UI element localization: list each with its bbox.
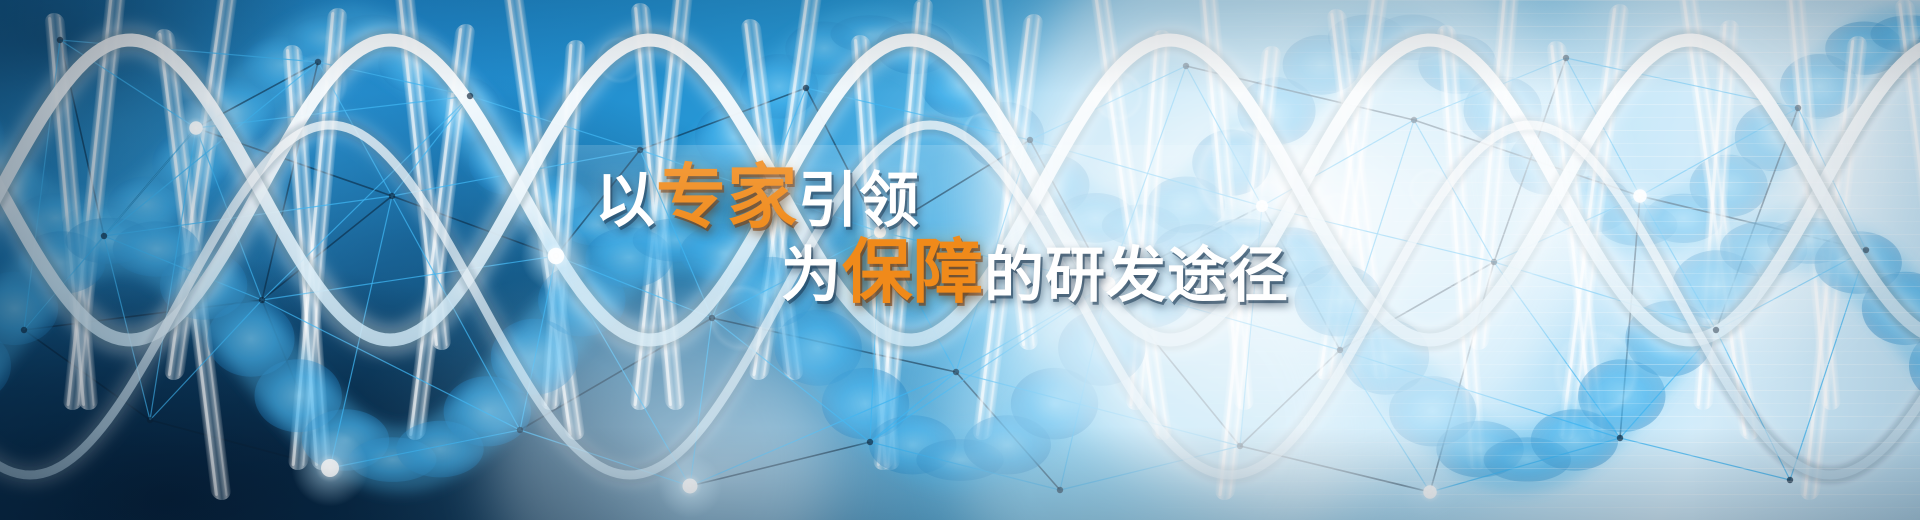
- network-edge-light: [60, 40, 196, 128]
- network-node-glow: [658, 454, 722, 518]
- network-edge-light: [1060, 284, 1108, 490]
- helix-bead: [1767, 218, 1854, 264]
- helix-bead: [1690, 155, 1768, 217]
- helix-bead: [1328, 15, 1406, 61]
- network-edge-light: [956, 372, 1240, 446]
- network-node-core: [683, 479, 698, 494]
- rung-highlight-2: [1483, 0, 1516, 346]
- rung-body: [1315, 0, 1392, 380]
- rung-highlight: [1803, 40, 1854, 496]
- helix-bead: [333, 15, 411, 61]
- rung-highlight: [506, 0, 572, 436]
- network-node: [327, 465, 333, 471]
- rung-highlight-2: [1571, 8, 1626, 436]
- rung-highlight: [1472, 0, 1506, 346]
- rung-bar: [1799, 36, 1868, 500]
- network-edge-light: [870, 372, 956, 442]
- rung-bar: [1674, 0, 1760, 440]
- network-node-core: [189, 121, 203, 135]
- rung-highlight: [1319, 0, 1378, 376]
- network-edge-light: [104, 236, 262, 300]
- rung-highlight-2: [420, 28, 472, 436]
- helix-bead: [1418, 34, 1496, 94]
- rung-highlight: [292, 12, 335, 466]
- helix-bead: [775, 310, 862, 386]
- network-edge-light: [1494, 262, 1620, 438]
- network-node: [637, 147, 643, 153]
- network-node-glow: [521, 221, 591, 291]
- bokeh-circle: [1092, 70, 1144, 122]
- network-edge-light: [1798, 108, 1866, 250]
- rung-bar: [163, 0, 238, 380]
- helix-bead: [1389, 376, 1476, 446]
- rung-highlight-2: [1689, 0, 1756, 436]
- helix-bead: [255, 359, 342, 432]
- rung-bar: [44, 13, 99, 410]
- rung-body: [1326, 9, 1392, 380]
- light-hotspot: [1510, 0, 1890, 350]
- bokeh-circle: [596, 36, 644, 84]
- network-edge-light: [1716, 330, 1790, 480]
- rung-body: [154, 29, 232, 500]
- helix-bead: [831, 15, 909, 53]
- rung-body: [288, 8, 348, 470]
- bokeh-circle: [1408, 168, 1452, 212]
- helix-bead: [288, 15, 366, 61]
- network-node: [315, 59, 321, 65]
- rung-highlight: [1561, 8, 1617, 436]
- network-node: [803, 85, 809, 91]
- rung-body: [1556, 4, 1630, 440]
- helix-bead: [740, 54, 818, 119]
- rung-highlight-2: [1561, 45, 1604, 436]
- rung-bar: [502, 0, 586, 440]
- helix-bead: [1780, 54, 1858, 119]
- helix-bead: [1625, 301, 1712, 377]
- rung-highlight-2: [1341, 13, 1388, 376]
- helix-bead: [1720, 221, 1807, 276]
- helix-bead: [302, 409, 389, 470]
- network-node: [1863, 247, 1869, 253]
- headline-run-l1-emphasis-1: 专家: [656, 156, 798, 238]
- helix-bead: [424, 76, 502, 143]
- network-edge-dark: [640, 88, 806, 150]
- helix-bead: [0, 272, 58, 345]
- network-node: [687, 483, 693, 489]
- network-edge-light: [262, 300, 520, 430]
- network-edge-light: [1640, 196, 1716, 330]
- network-edge-light: [104, 62, 318, 236]
- network-edge-light: [104, 128, 196, 236]
- rung-highlight-2: [517, 0, 582, 436]
- rung-body: [1436, 25, 1487, 470]
- network-edge-light: [1566, 58, 1798, 108]
- bokeh-circle: [1552, 328, 1640, 416]
- network-node: [1411, 117, 1417, 123]
- rung-bar: [1784, 0, 1841, 410]
- network-edge-dark: [60, 40, 104, 236]
- helix-bead: [396, 421, 483, 478]
- helix-bead: [966, 102, 1044, 170]
- rung-body: [44, 13, 99, 410]
- rung-highlight: [1898, 3, 1920, 376]
- headline-run-l2-text-2: 的研发途径: [984, 241, 1289, 311]
- rung-highlight: [66, 0, 114, 406]
- network-edge-light: [1060, 446, 1240, 490]
- network-edge-light: [104, 196, 392, 236]
- rung-highlight: [544, 44, 573, 406]
- helix-bead: [1058, 310, 1145, 386]
- rung-body: [1693, 20, 1740, 410]
- rung-highlight: [409, 28, 462, 436]
- network-node: [1491, 259, 1497, 265]
- network-edge-dark: [1640, 196, 1866, 250]
- rung-highlight-2: [555, 44, 582, 406]
- network-node: [709, 315, 715, 321]
- helix-bead: [62, 205, 140, 246]
- rung-body: [163, 0, 238, 380]
- rung-highlight-2: [178, 0, 233, 376]
- network-edge-light: [1790, 250, 1866, 480]
- network-edge-dark: [262, 196, 392, 300]
- helix-bead: [491, 319, 578, 395]
- rung-body: [392, 0, 452, 350]
- helix-bead: [1531, 409, 1618, 470]
- network-node: [1713, 327, 1719, 333]
- helix-bead: [197, 77, 275, 144]
- network-node-glow: [292, 430, 369, 507]
- rung-body: [1468, 0, 1520, 350]
- network-edge-light: [392, 196, 520, 430]
- rung-body: [1784, 0, 1841, 410]
- network-node: [1795, 105, 1801, 111]
- helix-bead: [1436, 421, 1523, 478]
- rung-highlight-2: [1909, 3, 1920, 376]
- helix-bead: [1599, 204, 1677, 246]
- network-node: [1427, 489, 1433, 495]
- helix-bead: [916, 439, 1003, 481]
- rung-body: [1546, 41, 1608, 440]
- network-node: [467, 93, 473, 99]
- network-node: [517, 427, 523, 433]
- rung-bar: [392, 0, 452, 350]
- network-edge-light: [150, 300, 262, 420]
- network-node: [101, 233, 107, 239]
- helix-bead: [107, 177, 185, 234]
- network-node-glow: [1401, 463, 1459, 520]
- network-node: [1617, 435, 1623, 441]
- rung-body: [502, 0, 586, 440]
- rung-highlight: [1697, 24, 1727, 406]
- network-node: [389, 193, 395, 199]
- network-edge-light: [262, 96, 470, 300]
- network-edge-light: [806, 88, 1030, 140]
- network-edge-dark: [1340, 262, 1494, 350]
- network-node: [867, 439, 873, 445]
- network-edge-light: [104, 236, 150, 420]
- rung-body: [540, 40, 586, 410]
- network-node: [21, 327, 27, 333]
- network-node-core: [548, 248, 565, 265]
- rung-bar: [62, 0, 128, 410]
- helix-bead: [17, 193, 95, 243]
- helix-bead: [1909, 328, 1920, 404]
- network-edge-dark: [392, 196, 556, 256]
- rung-highlight: [396, 0, 438, 346]
- helix-bead: [1509, 129, 1587, 195]
- rung-highlight: [1330, 13, 1378, 376]
- headline-run-l2-emphasis-1: 保障: [842, 231, 984, 313]
- network-edge-dark: [690, 442, 870, 486]
- helix-bead: [1237, 77, 1315, 144]
- helix-bead: [1484, 437, 1571, 482]
- network-edge-dark: [712, 318, 956, 372]
- network-edge-light: [1430, 438, 1620, 492]
- network-node: [259, 297, 265, 303]
- helix-bead: [1862, 272, 1920, 345]
- rung-highlight-2: [77, 0, 124, 406]
- network-edge-light: [330, 196, 392, 468]
- helix-bead: [113, 221, 200, 276]
- rung-bar: [1556, 4, 1630, 440]
- helix-bead: [1554, 176, 1632, 233]
- helix-bead: [1464, 76, 1542, 143]
- rung-bar: [1468, 0, 1520, 350]
- rung-bar: [1326, 9, 1392, 380]
- rung-highlight-2: [302, 12, 344, 466]
- headline-line-2: 为保障的研发途径: [781, 238, 1289, 307]
- network-edge-light: [24, 236, 104, 330]
- rung-highlight: [1550, 45, 1594, 436]
- rung-bar: [1546, 41, 1608, 440]
- network-edge-dark: [262, 300, 330, 468]
- network-edge-light: [318, 62, 470, 96]
- network-edge-light: [1340, 350, 1620, 438]
- network-edge-light: [712, 318, 870, 442]
- rung-body: [1799, 36, 1868, 500]
- network-edge-light: [1030, 66, 1186, 140]
- headline-run-l1-text-2: 引领: [798, 166, 920, 236]
- network-node: [1337, 347, 1343, 353]
- network-edge-dark: [24, 128, 196, 330]
- network-edge-dark: [1430, 262, 1494, 492]
- network-edge-dark: [24, 300, 262, 330]
- helix-bead: [1295, 264, 1382, 336]
- network-edge-light: [1414, 120, 1494, 262]
- rung-highlight: [1440, 29, 1474, 466]
- rung-highlight: [1788, 0, 1828, 406]
- helix-bead: [0, 154, 49, 216]
- network-edge-light: [1620, 330, 1716, 438]
- rung-highlight-2: [297, 49, 328, 466]
- headline-run-l2-text-0: 为: [781, 241, 842, 311]
- network-edge-light: [60, 40, 318, 62]
- network-edge-light: [330, 430, 520, 468]
- helix-bead: [349, 437, 436, 482]
- network-node: [953, 369, 959, 375]
- network-edge-light: [1716, 250, 1866, 330]
- rung-highlight: [1678, 0, 1747, 436]
- network-edge-light: [1620, 438, 1790, 480]
- rung-highlight-2: [1330, 0, 1388, 376]
- network-node: [1237, 443, 1243, 449]
- network-edge-light: [520, 256, 556, 430]
- rung-bar: [282, 45, 332, 470]
- helix-bead: [921, 53, 999, 117]
- bokeh-circle: [1308, 192, 1368, 252]
- bokeh-circle: [288, 54, 348, 114]
- network-edge-light: [1262, 206, 1494, 262]
- helix-bead: [243, 35, 321, 95]
- rung-bar: [154, 29, 232, 500]
- network-edge-light: [24, 40, 60, 330]
- rung-bar: [540, 40, 586, 410]
- network-edge-light: [1494, 262, 1716, 330]
- helix-bead: [1825, 22, 1903, 75]
- rung-highlight-2: [1451, 29, 1484, 466]
- network-edge-dark: [1494, 58, 1566, 262]
- network-node: [1637, 193, 1643, 199]
- bokeh-circle: [962, 112, 1002, 152]
- network-edge-light: [150, 128, 196, 420]
- network-node-core: [1423, 485, 1437, 499]
- helix-bead: [785, 22, 863, 75]
- network-node: [553, 253, 559, 259]
- helix-bead: [0, 328, 11, 404]
- rung-highlight-2: [407, 0, 448, 346]
- helix-bead: [469, 129, 547, 195]
- network-node: [1057, 487, 1063, 493]
- light-hotspot: [490, 300, 830, 520]
- helix-bead: [444, 376, 531, 446]
- helix-bead: [378, 34, 456, 94]
- helix-bead: [1373, 15, 1451, 61]
- rung-highlight-2: [1799, 0, 1838, 406]
- helix-bead: [1283, 35, 1361, 95]
- network-edge-light: [470, 96, 556, 256]
- network-edge-light: [262, 256, 556, 300]
- network-edge-dark: [150, 420, 330, 468]
- headline-block: 以专家引领 为保障的研发途径: [595, 163, 1289, 306]
- helix-bead: [18, 231, 105, 294]
- network-edge-dark: [1240, 350, 1340, 446]
- helix-bead: [514, 176, 592, 233]
- network-node-glow: [167, 99, 225, 157]
- rung-bar: [1894, 0, 1920, 380]
- network-edge-light: [318, 62, 392, 196]
- network-edge-light: [196, 128, 262, 300]
- rung-body: [62, 0, 128, 410]
- helix-bead: [1673, 250, 1760, 319]
- network-node: [1787, 477, 1793, 483]
- network-edge-dark: [1414, 120, 1640, 196]
- network-node-core: [1633, 189, 1647, 203]
- helix-bead: [1916, 21, 1920, 74]
- helix-bead: [65, 218, 152, 264]
- network-node: [1183, 63, 1189, 69]
- helix-bead: [1815, 231, 1902, 294]
- rung-bar: [1693, 20, 1740, 410]
- network-node: [57, 37, 63, 43]
- helix-bead: [1011, 368, 1098, 440]
- network-edge-dark: [196, 128, 392, 196]
- network-edge-dark: [262, 62, 318, 300]
- helix-bead: [1644, 194, 1722, 243]
- rung-bar: [1436, 25, 1487, 470]
- headline-line-1: 以专家引领: [595, 163, 1289, 232]
- helix-bead: [822, 368, 909, 440]
- rung-bar: [288, 8, 348, 470]
- network-edge-dark: [24, 330, 150, 420]
- network-node-glow: [1611, 167, 1669, 225]
- network-edge-light: [690, 372, 956, 486]
- rung-bar: [405, 24, 476, 440]
- network-node: [193, 125, 199, 131]
- rung-highlight-2: [1707, 24, 1736, 406]
- network-edge-light: [1640, 108, 1798, 196]
- network-node: [147, 417, 153, 423]
- rung-body: [1894, 0, 1920, 380]
- rung-highlight: [158, 33, 218, 496]
- rung-highlight-2: [59, 17, 95, 406]
- network-edge-light: [1340, 120, 1414, 350]
- network-node: [1563, 55, 1569, 61]
- helix-bead: [964, 415, 1051, 474]
- helix-bead: [1578, 359, 1665, 432]
- network-edge-dark: [196, 62, 318, 128]
- rung-highlight: [168, 0, 225, 376]
- rung-highlight-2: [1814, 40, 1864, 496]
- network-node: [1027, 137, 1033, 143]
- network-edge-light: [1566, 58, 1640, 196]
- network-edge-light: [1494, 196, 1640, 262]
- network-edge-light: [690, 318, 712, 486]
- network-edge-light: [392, 96, 470, 196]
- network-edge-dark: [1186, 66, 1414, 120]
- rung-bar: [1315, 0, 1392, 380]
- headline-run-l1-text-0: 以: [595, 166, 656, 236]
- network-edge-light: [870, 442, 1060, 490]
- helix-bead: [207, 301, 294, 377]
- helix-bead: [1342, 319, 1429, 395]
- network-edge-dark: [1716, 108, 1798, 330]
- rung-highlight: [48, 17, 85, 406]
- helix-bead: [1871, 15, 1920, 53]
- rung-body: [1674, 0, 1760, 440]
- network-node-core: [321, 459, 339, 477]
- rung-highlight-2: [169, 33, 228, 496]
- helix-bead: [160, 250, 247, 319]
- network-edge-light: [470, 96, 640, 150]
- network-edge-light: [1414, 58, 1566, 120]
- helix-bead: [1735, 103, 1813, 171]
- network-edge-dark: [520, 318, 712, 430]
- helix-bead: [876, 21, 954, 74]
- network-edge-light: [1340, 350, 1430, 492]
- hero-banner: 以专家引领 为保障的研发途径: [0, 0, 1920, 520]
- helix-bead: [152, 130, 230, 196]
- helix-bead: [869, 415, 956, 474]
- network-edge-light: [196, 96, 470, 128]
- rung-highlight: [286, 49, 318, 466]
- rung-body: [282, 45, 332, 470]
- network-edge-dark: [1620, 196, 1640, 438]
- network-edge-dark: [956, 372, 1060, 490]
- network-edge-dark: [1240, 446, 1430, 492]
- rung-body: [405, 24, 476, 440]
- network-edge-light: [520, 430, 690, 486]
- helix-bead: [0, 102, 4, 170]
